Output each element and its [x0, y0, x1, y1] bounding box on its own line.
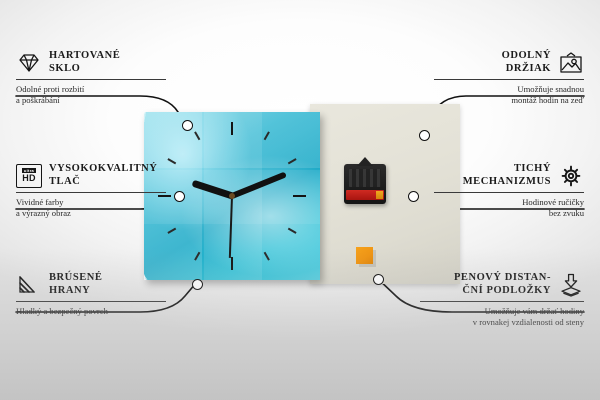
ultra-hd-icon: ultra HD	[16, 164, 42, 188]
movement-body	[349, 169, 381, 187]
feature-subtitle-line1: Hladký a bezpečný povrch	[16, 306, 166, 317]
feature-foam-spacers: PENOVÝ DISTAN- ČNÍ PODLOŽKY Umožňuje vám…	[420, 272, 584, 328]
feature-title: TICHÝ MECHANIZMUS	[463, 163, 551, 188]
feature-subtitle-line2: bez zvuku	[434, 208, 584, 219]
feature-header: TICHÝ MECHANIZMUS	[434, 163, 584, 188]
feature-title: VYSOKOKVALITNÝ TLAČ	[49, 163, 157, 188]
divider	[16, 192, 166, 193]
feature-header: ultra HD VYSOKOKVALITNÝ TLAČ	[16, 163, 166, 188]
feature-header: ODOLNÝ DRŽIAK	[434, 50, 584, 75]
feature-title: ODOLNÝ DRŽIAK	[502, 50, 551, 75]
feature-subtitle-line1: Odolné proti rozbití	[16, 84, 166, 95]
feature-title: BRÚSENÉ HRANY	[49, 272, 102, 297]
feature-header: PENOVÝ DISTAN- ČNÍ PODLOŽKY	[420, 272, 584, 297]
gear-icon	[558, 164, 584, 188]
feature-high-quality-print: ultra HD VYSOKOKVALITNÝ TLAČ Vividné far…	[16, 163, 166, 219]
beveled-edges-icon	[16, 273, 42, 297]
feature-subtitle-line1: Umožňuje vám držať hodiny	[420, 306, 584, 317]
picture-hanger-icon	[558, 51, 584, 75]
divider	[420, 301, 584, 302]
divider	[434, 192, 584, 193]
tick-3	[232, 195, 306, 197]
connector-dot-hanger	[419, 130, 430, 141]
feature-tempered-glass: HARTOVANÉ SKLO Odolné proti rozbití a po…	[16, 50, 166, 106]
feature-subtitle-line1: Vividné farby	[16, 197, 166, 208]
feature-title: PENOVÝ DISTAN- ČNÍ PODLOŽKY	[454, 272, 551, 297]
feature-title: HARTOVANÉ SKLO	[49, 50, 120, 75]
clock-movement	[344, 164, 386, 204]
connector-dot-edges	[192, 279, 203, 290]
feature-header: BRÚSENÉ HRANY	[16, 272, 166, 297]
feature-subtitle-line1: Umožňuje snadnou	[434, 84, 584, 95]
center-pin	[229, 193, 235, 199]
divider	[16, 301, 166, 302]
feature-subtitle-line2: v rovnakej vzdialenosti od steny	[420, 317, 584, 328]
diamond-icon	[16, 51, 42, 75]
foam-pad-icon	[558, 273, 584, 297]
connector-dot-glass	[182, 120, 193, 131]
battery	[346, 190, 384, 200]
feature-subtitle-line2: montáž hodin na zeď	[434, 95, 584, 106]
tick-12	[231, 122, 233, 196]
feature-subtitle-line2: a poškrábání	[16, 95, 166, 106]
feature-silent-mechanism: TICHÝ MECHANIZMUS Hodinové ručičky bez z…	[434, 163, 584, 219]
connector-dot-mechanism	[408, 191, 419, 202]
foam-spacer-pad	[356, 247, 373, 264]
connector-dot-foam	[373, 274, 384, 285]
feature-header: HARTOVANÉ SKLO	[16, 50, 166, 75]
infographic-canvas: HARTOVANÉ SKLO Odolné proti rozbití a po…	[0, 0, 600, 400]
divider	[16, 79, 166, 80]
wall-clock-photo	[144, 112, 320, 280]
feature-durable-hanger: ODOLNÝ DRŽIAK Umožňuje snadnou montáž ho…	[434, 50, 584, 106]
feature-beveled-edges: BRÚSENÉ HRANY Hladký a bezpečný povrch	[16, 272, 166, 317]
feature-subtitle-line1: Hodinové ručičky	[434, 197, 584, 208]
connector-dot-print	[174, 191, 185, 202]
feature-subtitle-line2: a výrazný obraz	[16, 208, 166, 219]
divider	[434, 79, 584, 80]
